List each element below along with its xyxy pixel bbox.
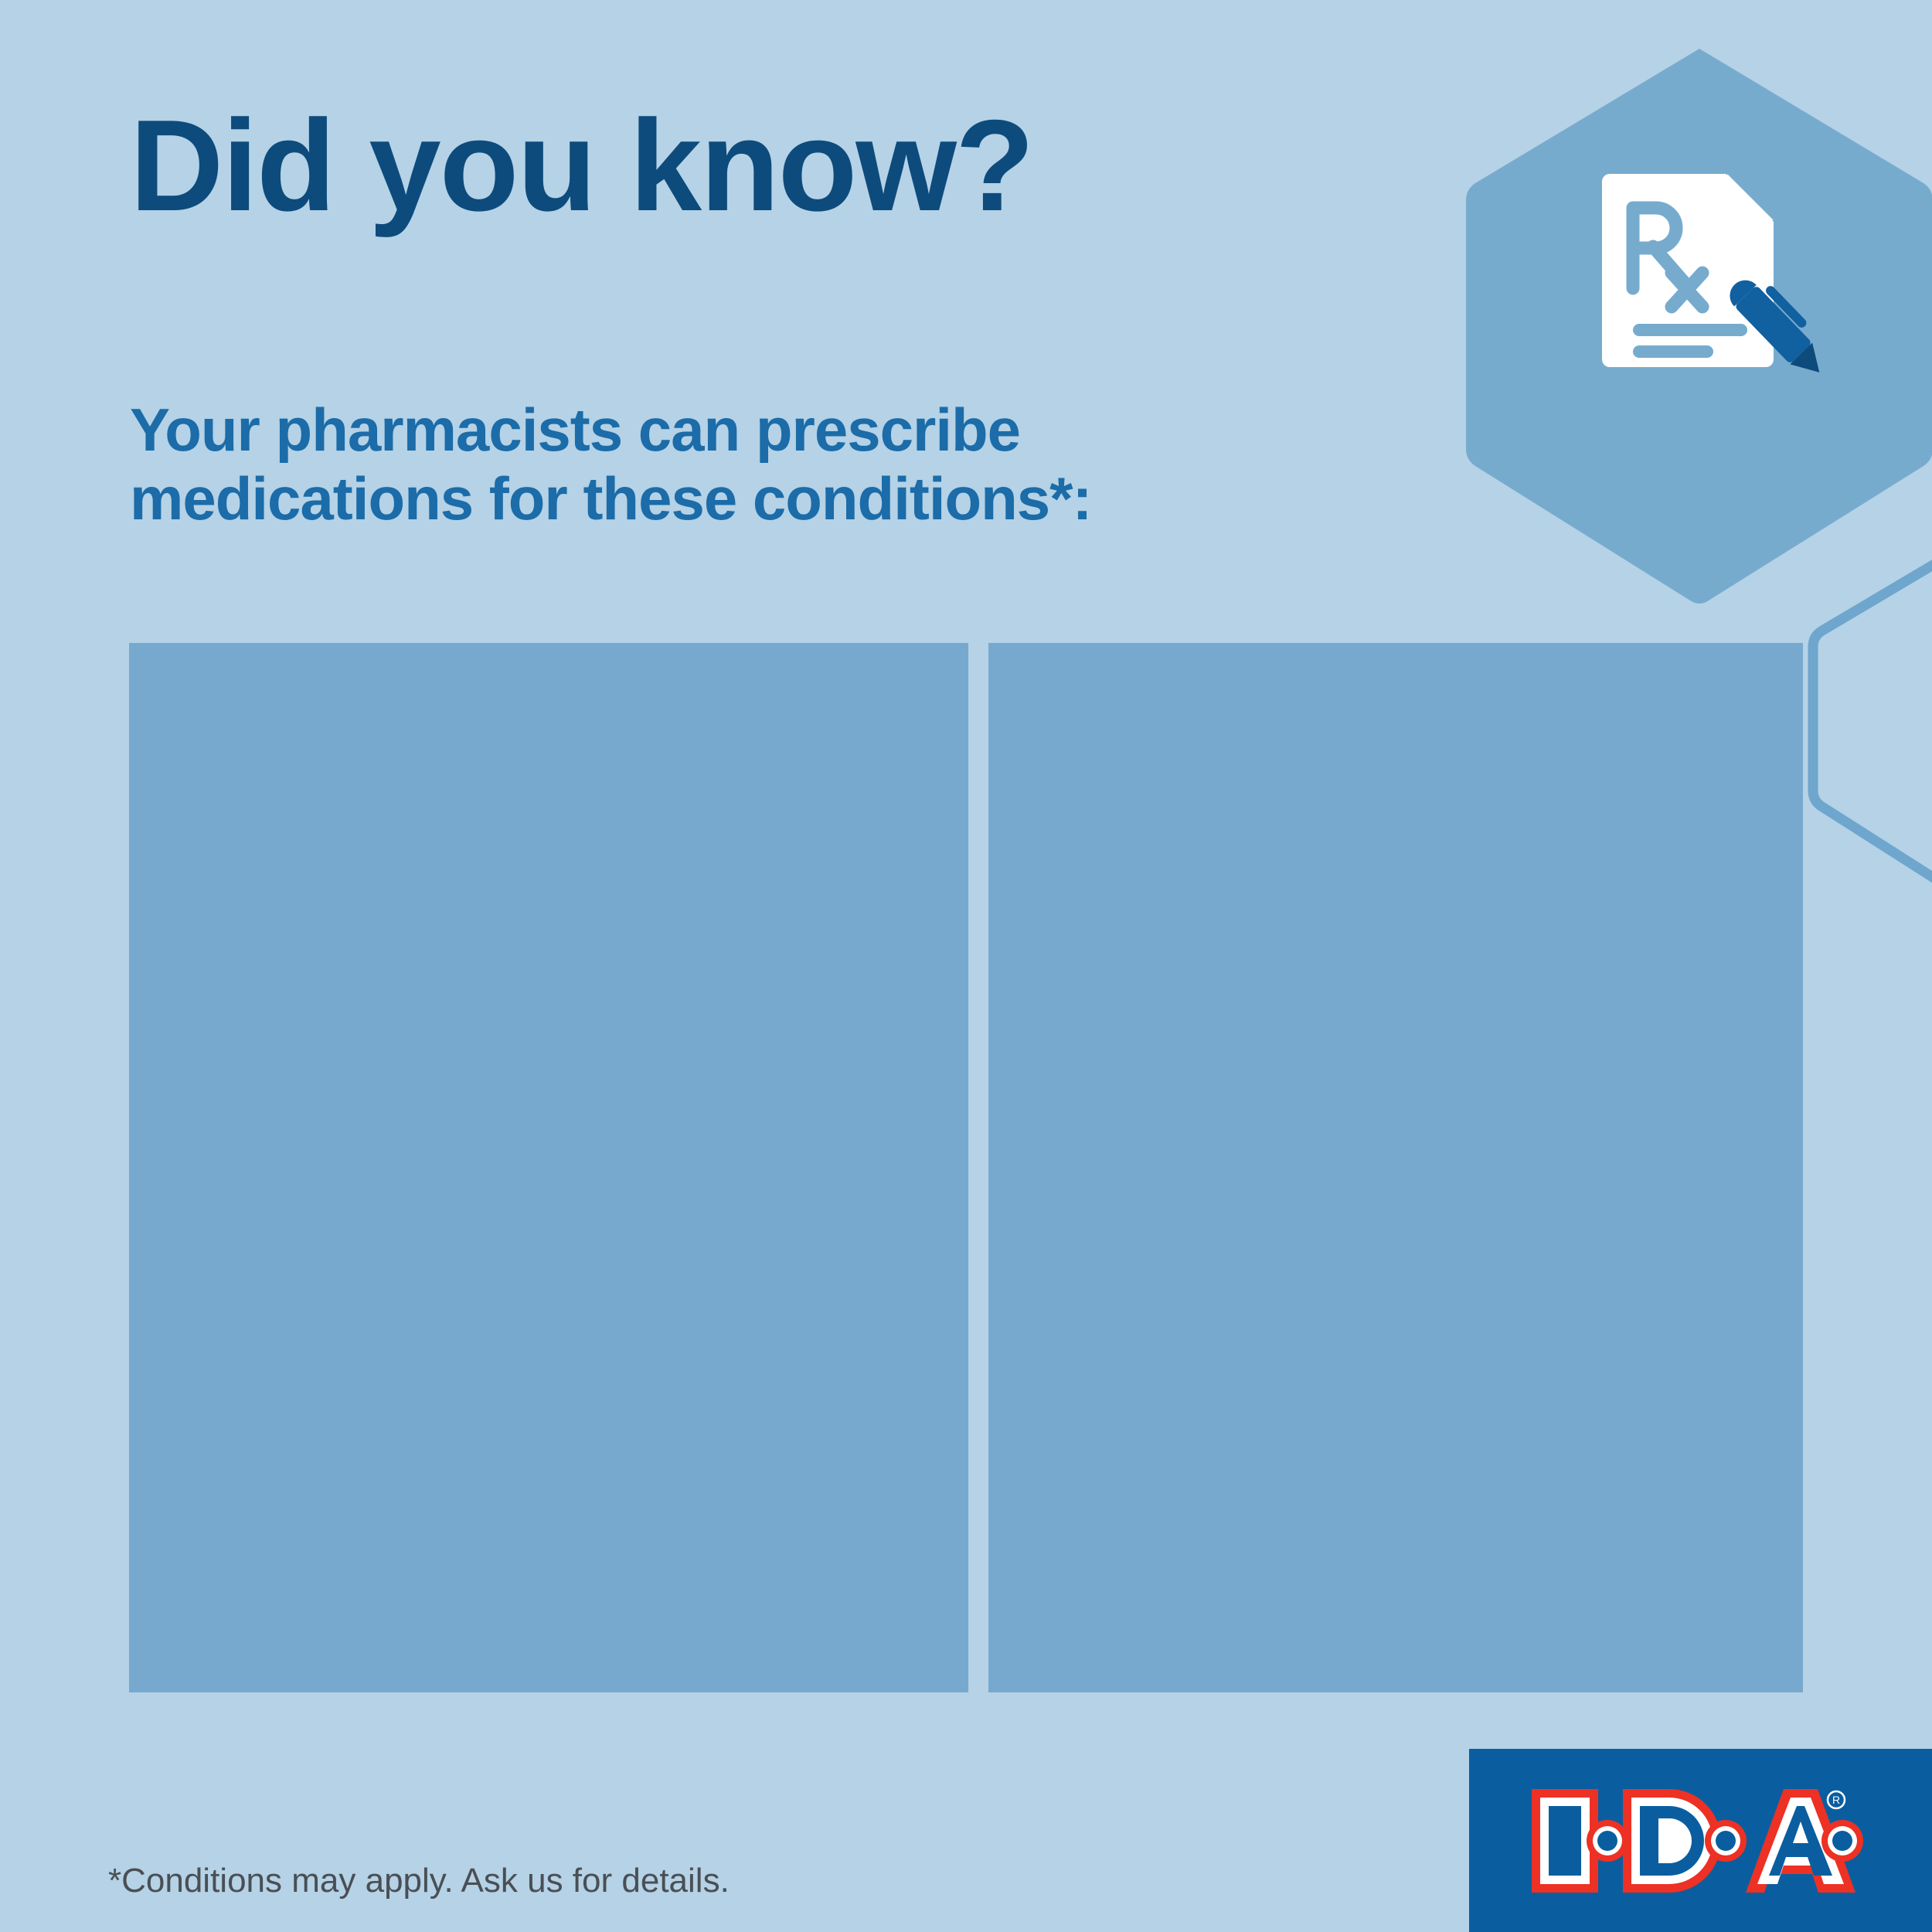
subheading-line-2: medications for these conditions*: <box>130 464 1092 533</box>
page-title: Did you know? <box>130 100 1033 230</box>
right-condition-panel <box>988 643 1803 1692</box>
subheading: Your pharmacists can prescribe medicatio… <box>130 396 1092 533</box>
poster-canvas: Did you know? Your pharmacists can presc… <box>0 0 1932 1932</box>
hexagon-outline-decoration <box>1801 541 1932 896</box>
footnote-disclaimer: *Conditions may apply. Ask us for detail… <box>108 1861 730 1902</box>
subheading-line-1: Your pharmacists can prescribe <box>130 396 1092 464</box>
svg-text:R: R <box>1832 1794 1840 1806</box>
ida-logo-panel: R <box>1469 1749 1932 1932</box>
ida-logo-icon: R <box>1527 1783 1867 1899</box>
rx-document-with-pen-icon <box>1579 165 1834 420</box>
left-condition-panel <box>129 643 968 1692</box>
